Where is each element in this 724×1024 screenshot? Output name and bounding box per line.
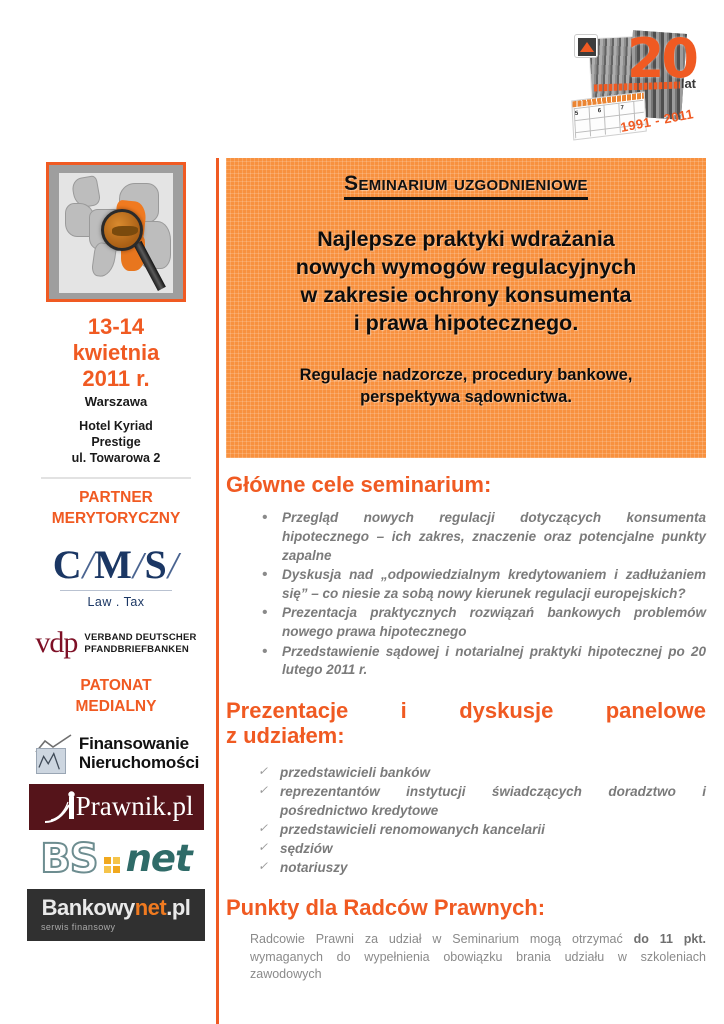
list-item: sędziów — [258, 839, 706, 858]
banner-subtitle-line-2: nowych wymogów regulacyjnych — [240, 254, 692, 282]
lawyer-figure-icon — [41, 791, 99, 825]
map-canvas — [59, 173, 173, 293]
banner-note-line-2: perspektywa sądownictwa. — [240, 386, 692, 408]
event-banner: Seminarium uzgodnieniowe Najlepsze prakt… — [226, 158, 706, 458]
list-item: Prezentacja praktycznych rozwiązań banko… — [262, 604, 706, 641]
points-text-highlight: do 11 pkt. — [634, 932, 706, 946]
anniversary-logo: 5 6 7 20 lat 1991 - 2011 — [570, 30, 702, 138]
partner-heading-line-2: MERYTORYCZNY — [20, 509, 212, 530]
panels-heading-line-2: z udziałem: — [226, 723, 706, 748]
prawnik-logo[interactable]: Prawnik.pl — [29, 784, 204, 830]
sidebar-divider — [41, 477, 191, 479]
vdp-fullname: VERBAND DEUTSCHER PFANDBRIEFBANKEN — [84, 632, 196, 656]
event-city: Warszawa — [20, 394, 212, 409]
event-date-line-2: kwietnia — [20, 340, 212, 366]
column-divider — [216, 158, 219, 1024]
bsnet-net-wordmark: net — [126, 840, 192, 877]
vdp-wordmark: vdp — [35, 629, 77, 658]
points-text-before: Radcowie Prawni za udział w Seminarium m… — [250, 932, 634, 946]
cms-wordmark: C/M/S/ — [51, 545, 181, 585]
banner-subtitle-line-3: w zakresie ochrony konsumenta — [240, 282, 692, 310]
banner-title: Seminarium uzgodnieniowe — [344, 172, 588, 200]
banner-subtitle-line-4: i prawa hipotecznego. — [240, 310, 692, 338]
vdp-fullname-line-2: PFANDBRIEFBANKEN — [84, 644, 196, 656]
banner-subtitle: Najlepsze praktyki wdrażania nowych wymo… — [240, 226, 692, 338]
bankowynet-part-1: Bankowy — [42, 895, 135, 920]
bankowynet-part-2: net — [135, 895, 167, 920]
bankowynet-tagline: serwis finansowy — [41, 922, 115, 932]
banner-subtitle-line-1: Najlepsze praktyki wdrażania — [240, 226, 692, 254]
magnifier-icon — [101, 209, 143, 251]
goals-list: Przegląd nowych regulacji dotyczących ko… — [226, 509, 706, 680]
partner-heading-line-1: PARTNER — [20, 488, 212, 509]
anniversary-unit: lat — [681, 76, 696, 91]
list-item: przedstawicieli renomowanych kancelarii — [258, 820, 706, 839]
bsnet-bs-wordmark: BS — [40, 839, 97, 879]
panels-list: przedstawicieli banków reprezentantów in… — [226, 763, 706, 878]
points-text: Radcowie Prawni za udział w Seminarium m… — [226, 931, 706, 984]
event-date: 13-14 kwietnia 2011 r. — [20, 314, 212, 392]
venue-line-2: Prestige — [20, 434, 212, 450]
finansowanie-line-1: Finansowanie — [79, 734, 199, 753]
event-date-line-3: 2011 r. — [20, 366, 212, 392]
europe-map-image — [46, 162, 186, 302]
banner-note-line-1: Regulacje nadzorcze, procedury bankowe, — [240, 364, 692, 386]
brand-tag-icon — [574, 34, 598, 58]
vdp-logo[interactable]: vdp VERBAND DEUTSCHER PFANDBRIEFBANKEN — [26, 629, 206, 658]
panels-heading: Prezentacje i dyskusje panelowe z udział… — [226, 698, 706, 749]
banner-note: Regulacje nadzorcze, procedury bankowe, … — [240, 364, 692, 409]
list-item: Dyskusja nad „odpowiedzialnym kredytowan… — [262, 566, 706, 603]
finansowanie-wordmark: Finansowanie Nieruchomości — [79, 734, 199, 772]
partner-heading: PARTNER MERYTORYCZNY — [20, 488, 212, 530]
list-item: Przegląd nowych regulacji dotyczących ko… — [262, 509, 706, 565]
bsnet-squares-icon — [104, 857, 120, 873]
media-heading-line-2: MEDIALNY — [20, 697, 212, 718]
bankowynet-wordmark: Bankowynet.pl — [42, 897, 191, 919]
bsnet-logo[interactable]: BS net — [27, 836, 205, 882]
points-heading: Punkty dla Radców Prawnych: — [226, 895, 706, 920]
anniversary-logo-area: 5 6 7 20 lat 1991 - 2011 — [570, 30, 702, 138]
media-heading-line-1: PATONAT — [20, 676, 212, 697]
bankowynet-part-3: .pl — [166, 895, 190, 920]
chart-thumb-icon — [36, 748, 66, 774]
points-text-after: wymaganych do wypełnienia obowiązku bran… — [250, 950, 706, 982]
goals-heading: Główne cele seminarium: — [226, 472, 706, 497]
event-venue: Hotel Kyriad Prestige ul. Towarowa 2 — [20, 418, 212, 467]
list-item: notariuszy — [258, 858, 706, 877]
event-date-line-1: 13-14 — [20, 314, 212, 340]
list-item: przedstawicieli banków — [258, 763, 706, 782]
cms-logo[interactable]: C/M/S/ Law . Tax — [51, 545, 181, 609]
sidebar: 13-14 kwietnia 2011 r. Warszawa Hotel Ky… — [20, 158, 212, 941]
vdp-fullname-line-1: VERBAND DEUTSCHER — [84, 632, 196, 644]
main-content: Seminarium uzgodnieniowe Najlepsze prakt… — [226, 158, 706, 984]
list-item: reprezentantów instytucji świadczących d… — [258, 782, 706, 820]
panels-heading-line-1: Prezentacje i dyskusje panelowe — [226, 698, 706, 723]
cms-rule — [60, 590, 172, 591]
media-patronage-heading: PATONAT MEDIALNY — [20, 676, 212, 718]
venue-line-1: Hotel Kyriad — [20, 418, 212, 434]
finansowanie-line-2: Nieruchomości — [79, 753, 199, 772]
cms-tagline: Law . Tax — [51, 595, 181, 609]
finansowanie-nieruchomosci-logo[interactable]: Finansowanie Nieruchomości — [26, 732, 206, 774]
chart-icon — [33, 732, 73, 774]
venue-line-3: ul. Towarowa 2 — [20, 450, 212, 466]
list-item: Przedstawienie sądowej i notarialnej pra… — [262, 643, 706, 680]
bankowynet-logo[interactable]: Bankowynet.pl serwis finansowy — [27, 889, 205, 941]
